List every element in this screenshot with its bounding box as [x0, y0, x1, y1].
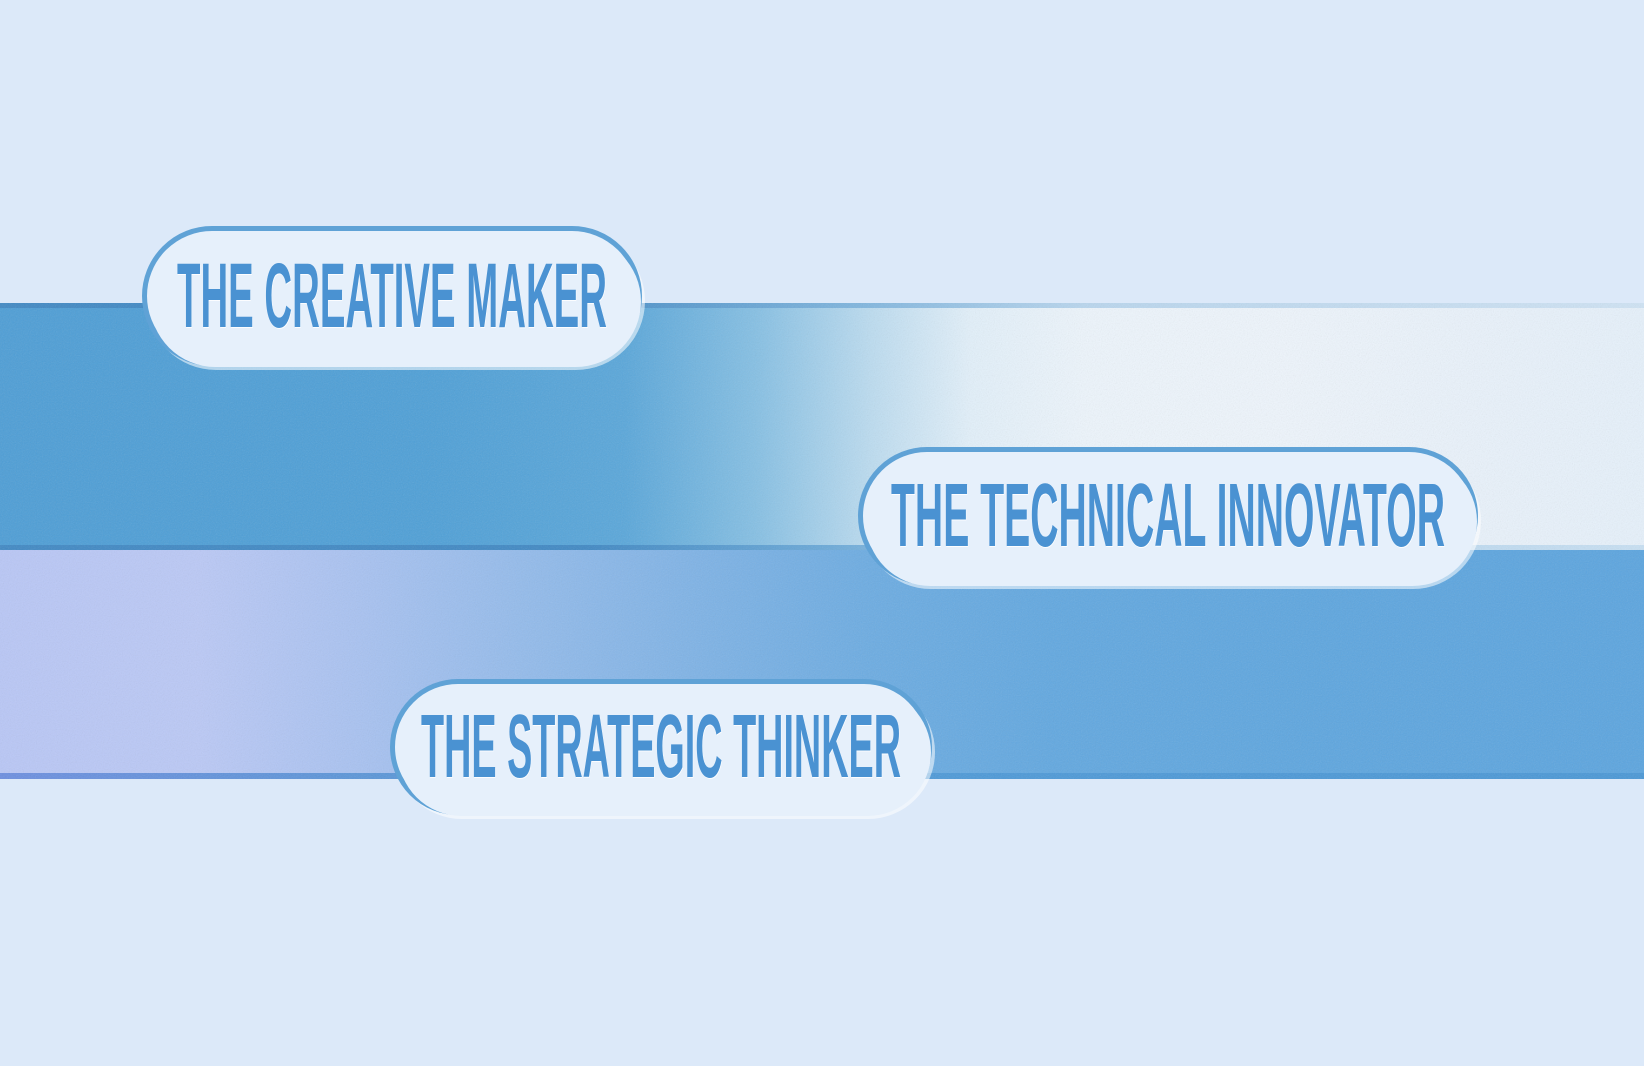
- chip-the-technical-innovator[interactable]: THE TECHNICAL INNOVATOR: [858, 447, 1478, 585]
- chip-the-strategic-thinker[interactable]: THE STRATEGIC THINKER: [390, 679, 932, 815]
- chip-label-strategic: THE STRATEGIC THINKER: [421, 706, 901, 789]
- chip-label-technical: THE TECHNICAL INNOVATOR: [891, 475, 1445, 558]
- chip-label-creative: THE CREATIVE MAKER: [177, 254, 607, 339]
- chip-the-creative-maker[interactable]: THE CREATIVE MAKER: [142, 226, 642, 366]
- poster-canvas: THE CREATIVE MAKER THE TECHNICAL INNOVAT…: [0, 0, 1644, 1066]
